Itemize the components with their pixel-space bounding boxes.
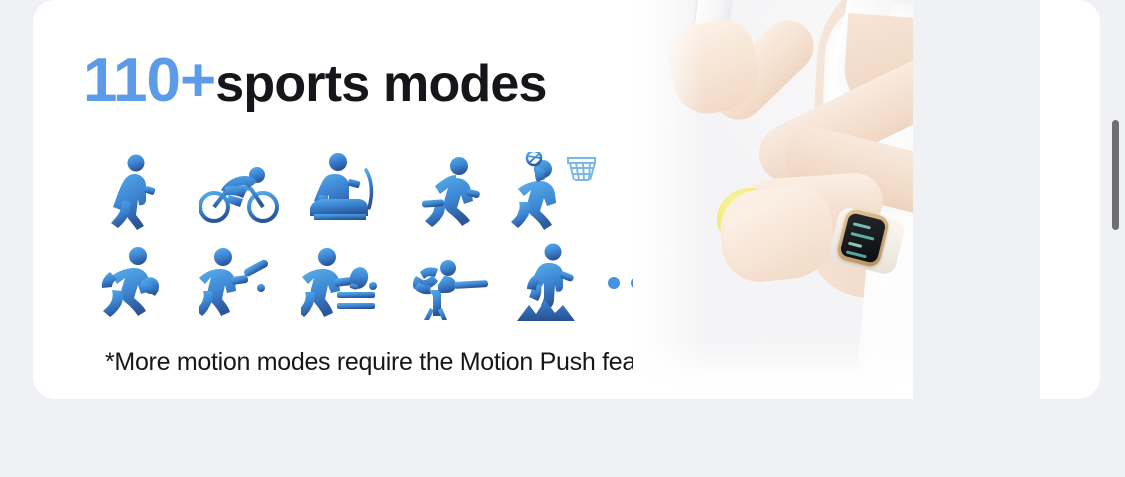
product-feature-card: 110+sports modes [33,0,913,399]
watch-screen-line-4 [846,250,867,258]
basketball-icon [501,149,606,237]
page-title: 110+sports modes [83,50,547,112]
cycling-icon [186,149,291,237]
smartwatch-screen [839,212,887,264]
baseball-icon [185,239,289,327]
yoga-icon [393,239,497,327]
photo-bottom-fade [633,339,913,399]
sports-icon-grid [81,142,681,327]
watch-screen-line-1 [853,222,871,229]
walking-icon [81,149,186,237]
product-lifestyle-photo [633,0,913,399]
hiking-icon [498,239,602,327]
scrollbar-thumb[interactable] [1112,120,1119,230]
table-tennis-icon [289,239,393,327]
sports-icon-row-2 [81,237,681,327]
elliptical-machine-icon [291,149,396,237]
running-icon [396,149,501,237]
sports-icon-row-1 [81,142,681,237]
dot-1 [608,277,620,289]
card-right-edge [1040,0,1100,399]
page-scrollbar[interactable] [1111,0,1121,477]
watch-screen-line-2 [850,232,874,241]
page-background: 110+sports modes [0,0,1125,477]
sports-mode-count: 110+ [83,46,215,115]
watch-screen-line-3 [848,242,862,248]
football-icon [81,239,185,327]
sports-mode-label: sports modes [215,55,546,113]
